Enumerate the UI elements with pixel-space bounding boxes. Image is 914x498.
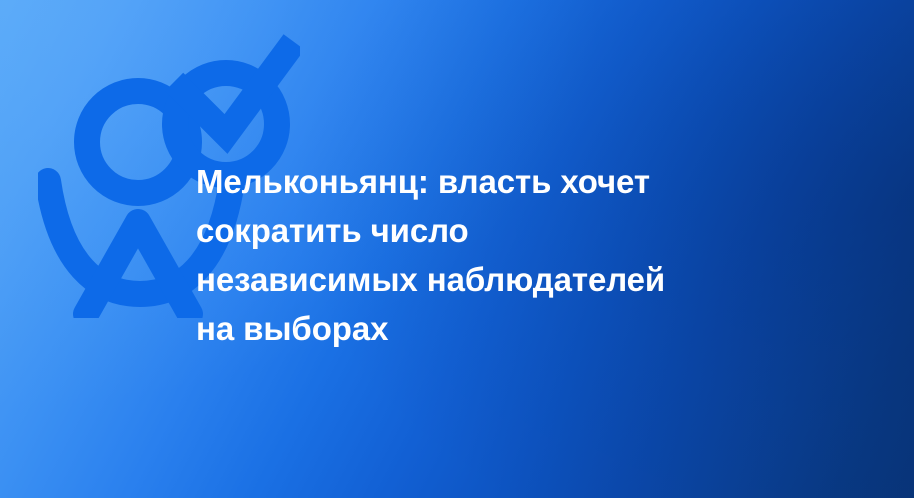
headline-line-1: Мельконьянц: власть хочет	[196, 157, 716, 206]
page-title: Мельконьянц: власть хочет сократить числ…	[196, 157, 716, 353]
headline-line-2: сократить число	[196, 206, 716, 255]
headline-line-4: на выборах	[196, 304, 716, 353]
news-share-card: Мельконьянц: власть хочет сократить числ…	[0, 0, 914, 498]
headline-line-3: независимых наблюдателей	[196, 255, 716, 304]
